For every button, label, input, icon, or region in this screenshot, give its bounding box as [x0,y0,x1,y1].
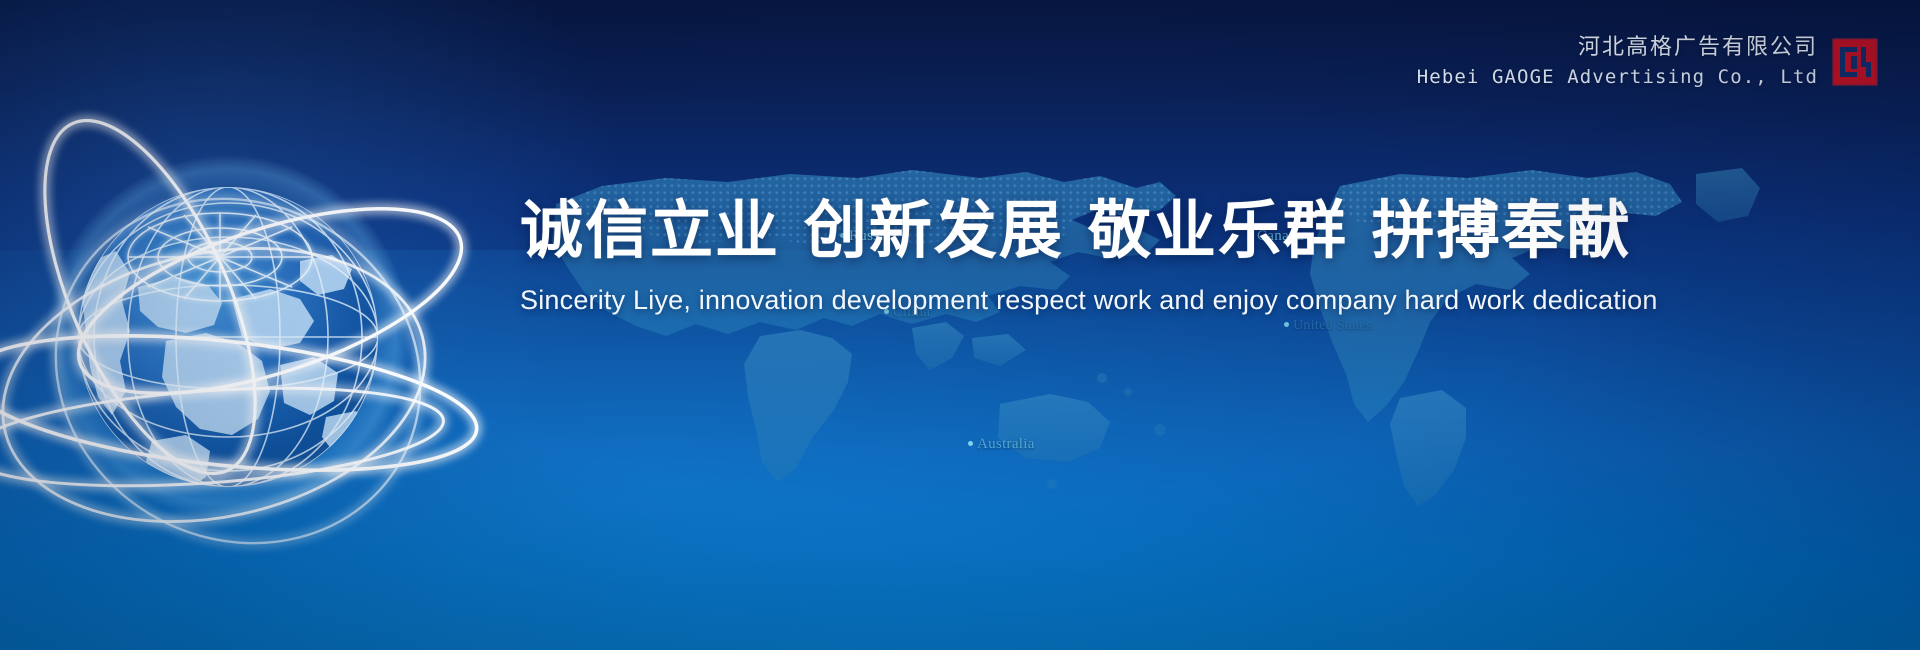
company-banner: Russia Canada China United States Austra… [0,0,1920,650]
map-label-text: United States [1293,318,1372,333]
map-dot-icon [1284,322,1289,327]
company-name-en: Hebei GAOGE Advertising Co., Ltd [1417,66,1818,90]
slogan-block: 诚信立业 创新发展 敬业乐群 拼搏奉献 Sincerity Liye, inno… [520,196,1860,316]
map-dot-icon [968,441,973,446]
gaoge-logo-icon [1832,38,1878,86]
vignette-overlay [0,0,1920,650]
company-names: 河北高格广告有限公司 Hebei GAOGE Advertising Co., … [1417,34,1818,89]
map-label-text: Australia [977,436,1035,452]
company-identity: 河北高格广告有限公司 Hebei GAOGE Advertising Co., … [1417,34,1878,89]
slogan-chinese: 诚信立业 创新发展 敬业乐群 拼搏奉献 [520,196,1860,267]
company-name-cn: 河北高格广告有限公司 [1578,34,1818,62]
slogan-english: Sincerity Liye, innovation development r… [520,285,1860,316]
map-label-australia: Australia [968,436,1035,453]
globe-graphic [0,85,470,555]
map-label-united-states: United States [1284,318,1372,334]
